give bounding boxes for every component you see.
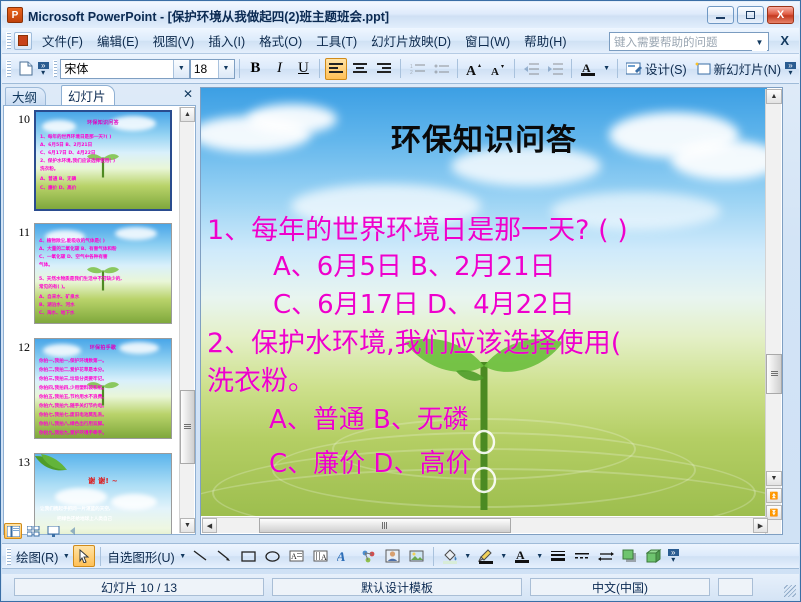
minimize-button[interactable]	[707, 6, 734, 24]
thumbnail-line: A、自来水、矿泉水	[39, 294, 79, 300]
dash-style-icon[interactable]	[571, 545, 593, 567]
question-2-text[interactable]: 2、保护水环境,我们应该选择使用(	[207, 321, 621, 360]
thumbnail-line: 你拍七,我拍七,废旧电池莫乱丢。	[39, 412, 107, 418]
status-design-template[interactable]: 默认设计模板	[272, 578, 522, 596]
menu-bar: 文件(F) 编辑(E) 视图(V) 插入(I) 格式(O) 工具(T) 幻灯片放…	[2, 28, 799, 54]
drawing-toolbar-grip-handle[interactable]	[6, 548, 11, 565]
formatting-toolbar: »▾ 宋体 ▼ 18 ▼ B I U 12	[2, 54, 799, 84]
decrease-indent-icon[interactable]	[520, 58, 542, 80]
slide-show-view-button[interactable]	[44, 523, 62, 539]
select-objects-icon[interactable]	[73, 545, 95, 567]
thumbnail-line: 常见的有( )。	[39, 284, 68, 290]
new-slide-label: 新幻灯片(N)	[714, 59, 781, 78]
menu-grip-handle[interactable]	[6, 32, 11, 49]
line-icon[interactable]	[190, 545, 212, 567]
line-color-icon[interactable]	[475, 545, 497, 567]
status-bar: 幻灯片 10 / 13 默认设计模板 中文(中国)	[2, 574, 799, 600]
menu-item-window[interactable]: 窗口(W)	[458, 28, 517, 53]
toolbar-separator-5	[514, 59, 515, 78]
thumbnail-number: 13	[4, 453, 34, 470]
svg-text:2: 2	[410, 70, 413, 75]
thumbnail-line: 你拍一,我拍一,保护环境数第一。	[39, 358, 107, 364]
thumbnail-line: 你拍五,我拍五,节约用水不浪费。	[39, 394, 107, 400]
vertical-text-box-icon[interactable]: A	[310, 545, 332, 567]
powerpoint-icon: P	[7, 7, 23, 23]
thumbnail-line: B、湖泊水、河水	[39, 302, 75, 308]
thumbnail-line: 让我们携起手把同一片湛蓝的天空,	[40, 506, 111, 512]
thumbnail-line: 你拍九,我拍九,爱护环境手牵手。	[39, 430, 107, 436]
thumbnail-line: 你拍三,我拍三,垃圾分类要牢记。	[39, 376, 107, 382]
previous-slide-button[interactable]: ⏫	[766, 488, 782, 503]
toolbar-separator-2	[319, 59, 320, 78]
close-pane-button[interactable]: ✕	[183, 87, 193, 101]
next-slide-button[interactable]: ⏬	[766, 505, 782, 520]
bold-button[interactable]: B	[244, 58, 266, 80]
svg-text:A: A	[291, 552, 297, 561]
drawing-font-color-icon[interactable]: A	[511, 545, 533, 567]
toolbar-overflow-button-2[interactable]: »▾	[785, 58, 796, 80]
insert-picture-icon[interactable]	[406, 545, 428, 567]
question-2-option-cd[interactable]: C、廉价 D、高价	[269, 443, 471, 480]
draw-menu-button[interactable]: 绘图(R)	[14, 547, 60, 566]
thumbnail-title: 环保知识问答	[36, 119, 170, 126]
thumbnail-title: 谢 谢! ~	[35, 476, 171, 486]
svg-text:A: A	[491, 66, 499, 76]
slide-title[interactable]: 环保知识问答	[201, 115, 767, 159]
thumbnail-line: 你拍六,我拍六,随手关灯节约电。	[39, 403, 107, 409]
design-button[interactable]: 设计(S)	[622, 57, 691, 80]
thumbnail-line: C、廉价 D、高价	[40, 185, 76, 191]
svg-text:A: A	[516, 548, 525, 562]
status-slide-counter: 幻灯片 10 / 13	[14, 578, 264, 596]
outline-collapse-icon[interactable]	[64, 523, 82, 539]
decrease-font-size-icon[interactable]: A	[487, 58, 509, 80]
wordart-icon[interactable]: A	[334, 545, 356, 567]
scroll-left-button[interactable]: ◀	[202, 518, 217, 533]
font-color-dropdown-icon[interactable]: ▼	[601, 58, 612, 80]
thumbnail-line: A、普通 B、无磷	[40, 176, 76, 182]
font-color-icon[interactable]: A	[577, 58, 599, 80]
svg-text:A: A	[337, 549, 348, 563]
thumbnail-line: 你拍二,我拍二,爱护花草是本分。	[39, 367, 107, 373]
toolbar-separator-3	[400, 59, 401, 78]
menu-item-insert[interactable]: 插入(I)	[201, 28, 252, 53]
clip-art-icon[interactable]	[382, 545, 404, 567]
oval-icon[interactable]	[262, 545, 284, 567]
question-1-text[interactable]: 1、每年的世界环境日是那一天? ( )	[207, 208, 628, 247]
thumbnail-number: 11	[4, 223, 34, 240]
thumbnail-line: 气体。	[39, 262, 53, 268]
drawing-toolbar-overflow-button[interactable]: »▾	[668, 545, 679, 567]
status-spellcheck-cell[interactable]	[718, 578, 753, 596]
design-label: 设计(S)	[645, 59, 687, 78]
menu-item-edit[interactable]: 编辑(E)	[90, 28, 146, 53]
menu-item-slideshow[interactable]: 幻灯片放映(D)	[364, 28, 458, 53]
tab-slides[interactable]: 幻灯片	[61, 85, 115, 105]
toolbar-separator-7	[617, 59, 618, 78]
scroll-up-button[interactable]: ▲	[180, 107, 195, 122]
thumbnail-image[interactable]: 环保知识问答 1、每年的世界环境日是那一天?( ) A、6月5日 B、2月21日…	[34, 110, 172, 211]
thumbnail-line: 5、天然水物质是我们生活中不可缺少的,	[39, 276, 122, 282]
arrow-style-icon[interactable]	[595, 545, 617, 567]
drawing-separator-1	[100, 547, 101, 566]
scrollbar-thumb[interactable]	[180, 390, 195, 464]
align-right-button[interactable]	[373, 58, 395, 80]
thumbnail-line: 洗衣粉。	[40, 166, 58, 172]
bulleted-list-icon[interactable]	[430, 58, 452, 80]
pane-tabs: 大纲 幻灯片 ✕	[3, 85, 196, 105]
svg-text:A: A	[582, 61, 591, 75]
svg-text:A: A	[321, 553, 327, 562]
underline-button[interactable]: U	[292, 58, 314, 80]
autoshapes-dropdown-icon[interactable]: ▼	[178, 545, 188, 567]
slide-thumbnail-list[interactable]: 10 环保知识问答 1、每年的世界环境日是那一天?( ) A、	[3, 105, 196, 535]
align-center-button[interactable]	[349, 58, 371, 80]
text-box-icon[interactable]: A	[286, 545, 308, 567]
new-slide-icon	[695, 62, 711, 76]
3d-style-icon[interactable]	[643, 545, 665, 567]
thumbnail-line: A、6月5日 B、2月21日	[40, 142, 92, 148]
thumbnail-number: 12	[4, 338, 34, 355]
window-title: Microsoft PowerPoint - [保护环境从我做起四(2)班主题班…	[28, 6, 389, 25]
toolbar-separator-1	[239, 59, 240, 78]
thumbnail-line: C、一氧化碳 D、空气中各种有害	[39, 254, 108, 260]
thumbnail-item-11[interactable]: 11 4、植物除尘,能吸收的气体是( ) A、大量的二氧化碳 B、有害气体和粉	[4, 223, 179, 324]
scroll-down-button[interactable]: ▼	[766, 471, 782, 486]
thumbnail-line: 你拍四,我拍四,少用塑料袋和纸。	[39, 385, 107, 391]
autoshapes-menu-button[interactable]: 自选图形(U)	[105, 547, 176, 566]
thumbnail-title: 环保拍手歌	[35, 344, 171, 351]
slide-sorter-view-button[interactable]	[24, 523, 42, 539]
thumbnail-number: 10	[4, 110, 34, 127]
draw-menu-dropdown-icon[interactable]: ▼	[61, 545, 71, 567]
drawing-font-color-dropdown-icon[interactable]: ▼	[535, 545, 545, 567]
ask-a-question-input[interactable]: 键入需要帮助的问题 ▼	[609, 32, 769, 51]
window-resize-grip[interactable]	[784, 585, 796, 597]
thumbnail-item-10[interactable]: 10 环保知识问答 1、每年的世界环境日是那一天?( ) A、	[4, 110, 179, 211]
thumbnail-line: 你拍八,我拍八,绿色出行用双脚。	[39, 421, 107, 427]
question-2-text-cont[interactable]: 洗衣粉。	[207, 359, 315, 398]
question-1-option-cd[interactable]: C、6月17日 D、4月22日	[273, 284, 575, 321]
thumbnail-line: 4、植物除尘,能吸收的气体是( )	[39, 238, 105, 244]
thumbnail-scrollbar[interactable]: ▲ ▼	[179, 107, 194, 533]
font-size-combobox[interactable]: 18 ▼	[190, 59, 235, 79]
close-button[interactable]: X	[767, 6, 794, 24]
increase-indent-icon[interactable]	[544, 58, 566, 80]
font-name-dropdown-icon[interactable]: ▼	[173, 60, 189, 78]
font-size-dropdown-icon[interactable]: ▼	[218, 60, 234, 78]
numbered-list-icon[interactable]: 12	[406, 58, 428, 80]
rectangle-icon[interactable]	[238, 545, 260, 567]
line-color-dropdown-icon[interactable]: ▼	[499, 545, 509, 567]
diagram-icon[interactable]	[358, 545, 380, 567]
thumbnail-line: 2、保护水环境,我们应该选择使用( )	[40, 158, 115, 164]
tab-outline[interactable]: 大纲	[5, 87, 46, 105]
scroll-right-button[interactable]: ▶	[753, 518, 768, 533]
thumbnail-line: C、6月17日 D、4月22日	[40, 150, 96, 156]
thumbnail-line: C、海水、地下水	[39, 310, 75, 316]
status-language[interactable]: 中文(中国)	[530, 578, 710, 596]
thumbnail-image[interactable]: 4、植物除尘,能吸收的气体是( ) A、大量的二氧化碳 B、有害气体和粉 C、一…	[34, 223, 172, 324]
normal-view-button[interactable]	[4, 523, 22, 539]
thumbnail-item-12[interactable]: 12 环保拍手歌 你拍一,我拍一,保护环境数第一。 你拍二,我拍二,爱	[4, 338, 179, 439]
question-2-option-ab[interactable]: A、普通 B、无磷	[269, 399, 469, 436]
font-size-value: 18	[194, 62, 207, 76]
scroll-up-button[interactable]: ▲	[766, 89, 782, 104]
drawing-separator-2	[433, 547, 434, 566]
toolbar-overflow-button-1[interactable]: »▾	[38, 58, 49, 80]
svg-text:A: A	[466, 64, 477, 76]
toolbar-grip-handle-2[interactable]	[53, 60, 58, 77]
scrollbar-thumb[interactable]	[766, 354, 782, 394]
arrow-icon[interactable]	[214, 545, 236, 567]
window-controls: X	[707, 6, 794, 24]
view-buttons-bar	[4, 522, 194, 540]
document-icon	[14, 32, 32, 50]
shadow-style-icon[interactable]	[619, 545, 641, 567]
font-name-value: 宋体	[64, 60, 88, 77]
new-slide-button[interactable]: 新幻灯片(N)	[691, 57, 785, 80]
increase-font-size-icon[interactable]: A	[463, 58, 485, 80]
slide-vertical-scrollbar[interactable]: ▲ ▼ ⏫ ⏬	[765, 89, 781, 535]
close-document-button[interactable]: X	[780, 33, 789, 48]
fill-color-icon[interactable]	[439, 545, 461, 567]
ask-a-question-placeholder: 键入需要帮助的问题	[610, 34, 718, 50]
title-bar: P Microsoft PowerPoint - [保护环境从我做起四(2)班主…	[2, 2, 799, 28]
drawing-toolbar: 绘图(R) ▼ 自选图形(U) ▼ A A A	[2, 543, 799, 569]
toolbar-grip-handle-1[interactable]	[6, 60, 11, 77]
scrollbar-thumb[interactable]	[259, 518, 511, 533]
toolbar-separator-4	[457, 59, 458, 78]
line-style-icon[interactable]	[547, 545, 569, 567]
font-name-combobox[interactable]: 宋体 ▼	[60, 59, 189, 79]
chevron-down-icon[interactable]: ▼	[752, 34, 767, 51]
menu-item-tools[interactable]: 工具(T)	[309, 28, 364, 53]
powerpoint-window: P Microsoft PowerPoint - [保护环境从我做起四(2)班主…	[0, 0, 801, 602]
italic-button[interactable]: I	[268, 58, 290, 80]
fill-color-dropdown-icon[interactable]: ▼	[463, 545, 473, 567]
question-1-option-ab[interactable]: A、6月5日 B、2月21日	[273, 246, 556, 283]
menu-item-help[interactable]: 帮助(H)	[517, 28, 573, 53]
maximize-button[interactable]	[737, 6, 764, 24]
toolbar-separator-6	[571, 59, 572, 78]
slide-horizontal-scrollbar[interactable]: ◀ ▶	[202, 517, 768, 533]
thumbnail-line: 1、每年的世界环境日是那一天?( )	[40, 134, 111, 140]
menu-item-format[interactable]: 格式(O)	[252, 28, 309, 53]
menu-item-file[interactable]: 文件(F)	[35, 28, 90, 53]
align-left-button[interactable]	[325, 58, 347, 80]
new-document-icon[interactable]	[15, 58, 37, 80]
current-slide[interactable]: 环保知识问答 1、每年的世界环境日是那一天? ( ) A、6月5日 B、2月21…	[201, 88, 767, 516]
menu-item-view[interactable]: 视图(V)	[146, 28, 202, 53]
thumbnail-line: A、大量的二氧化碳 B、有害气体和粉	[39, 246, 117, 252]
thumbnail-image[interactable]: 环保拍手歌 你拍一,我拍一,保护环境数第一。 你拍二,我拍二,爱护花草是本分。 …	[34, 338, 172, 439]
design-icon	[626, 62, 642, 76]
slide-editing-pane[interactable]: 环保知识问答 1、每年的世界环境日是那一天? ( ) A、6月5日 B、2月21…	[200, 87, 783, 535]
slides-outline-pane: 大纲 幻灯片 ✕ 10	[3, 85, 196, 535]
